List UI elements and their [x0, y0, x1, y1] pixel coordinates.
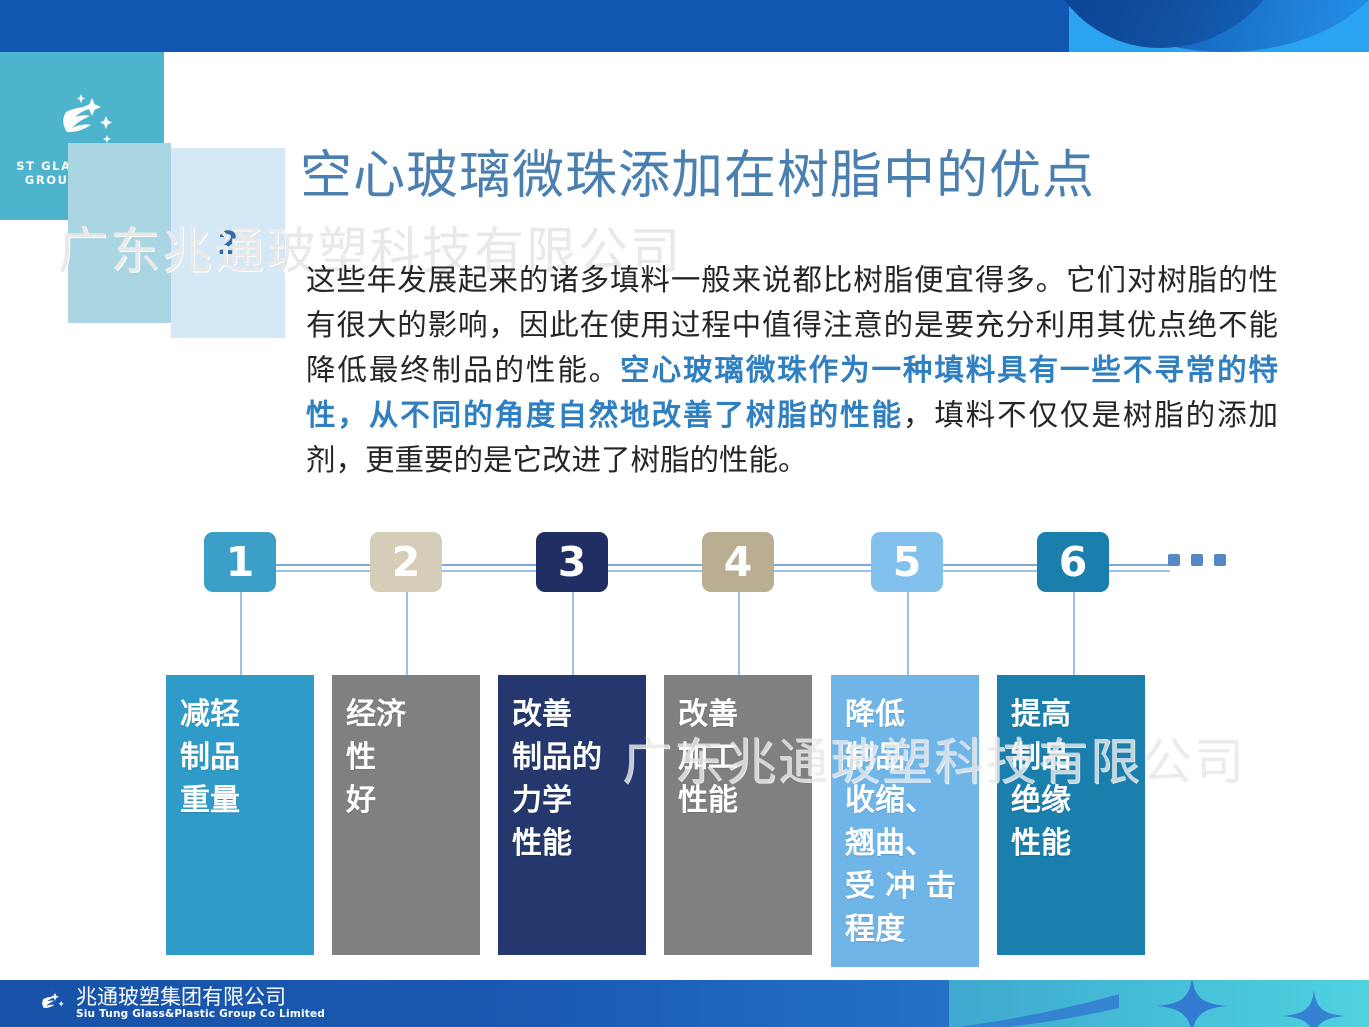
timeline-connector-4	[738, 592, 740, 685]
footer-company-cn: 兆通玻塑集团有限公司	[76, 986, 325, 1008]
timeline-card-line: 经济	[346, 693, 480, 736]
timeline-connector-5	[907, 592, 909, 685]
timeline-badge-3[interactable]: 3	[536, 532, 608, 592]
timeline-card-line: 好	[346, 779, 480, 822]
timeline-badge-1[interactable]: 1	[204, 532, 276, 592]
timeline-badge-2[interactable]: 2	[370, 532, 442, 592]
timeline-connector-1	[240, 592, 242, 685]
timeline-badge-4[interactable]: 4	[702, 532, 774, 592]
timeline-card-5[interactable]: 降低制品收缩、翘曲、受 冲 击程度	[831, 675, 979, 967]
timeline-card-line: 减轻	[180, 693, 314, 736]
timeline-connector-2	[406, 592, 408, 685]
timeline-badge-6[interactable]: 6	[1037, 532, 1109, 592]
timeline-connector-3	[572, 592, 574, 685]
timeline-connector-6	[1073, 592, 1075, 685]
timeline-card-line: 翘曲、	[845, 822, 979, 865]
page-title: 空心玻璃微珠添加在树脂中的优点	[300, 133, 1095, 208]
timeline-badge-5[interactable]: 5	[871, 532, 943, 592]
footer-bar: 兆通玻塑集团有限公司 Siu Tung Glass&Plastic Group …	[0, 980, 1369, 1027]
footer-swoosh-icon	[889, 994, 1119, 1027]
timeline-card-line: 程度	[845, 908, 979, 951]
top-banner	[0, 0, 1369, 52]
footer-gradient-right	[949, 980, 1369, 1027]
timeline-card-4[interactable]: 改善加工性能	[664, 675, 812, 955]
timeline-card-line: 制品	[180, 736, 314, 779]
timeline-card-line: 重量	[180, 779, 314, 822]
timeline-ellipsis-icon	[1168, 554, 1226, 566]
timeline-card-line: 性能	[1011, 822, 1145, 865]
timeline-card-line: 性能	[512, 822, 646, 865]
timeline-card-line: 性	[346, 736, 480, 779]
watermark-bottom: 广东兆通玻塑科技有限公司	[622, 722, 1246, 794]
timeline-card-6[interactable]: 提高制品绝缘性能	[997, 675, 1145, 955]
footer-crescent-sparkle-logo-icon	[34, 987, 67, 1020]
footer-sparkle-small-icon	[1279, 990, 1349, 1027]
timeline-card-line: 受 冲 击	[845, 865, 979, 908]
timeline-card-3[interactable]: 改善制品的力学性能	[498, 675, 646, 955]
footer-brand: 兆通玻塑集团有限公司 Siu Tung Glass&Plastic Group …	[34, 980, 325, 1027]
body-paragraph: 这些年发展起来的诸多填料一般来说都比树脂便宜得多。它们对树脂的性有很大的影响，因…	[306, 258, 1278, 483]
footer-sparkle-large-icon	[1149, 980, 1235, 1027]
footer-company-en: Siu Tung Glass&Plastic Group Co Limited	[76, 1008, 325, 1021]
timeline-card-1[interactable]: 减轻制品重量	[166, 675, 314, 955]
timeline-card-2[interactable]: 经济性好	[332, 675, 480, 955]
